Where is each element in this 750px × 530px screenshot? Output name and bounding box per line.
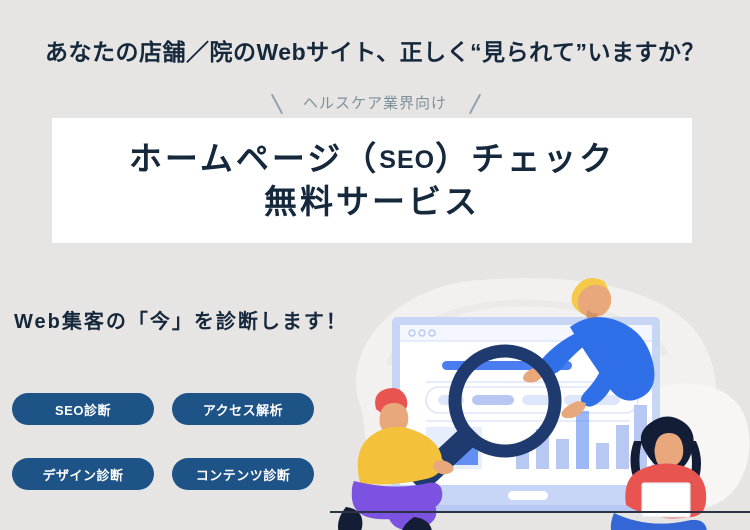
bar-3 <box>556 439 569 469</box>
badge-access-kaiseki[interactable]: アクセス解析 <box>172 393 314 425</box>
badge-design-shindan[interactable]: デザイン診断 <box>12 458 154 490</box>
bar-6 <box>616 425 629 469</box>
slash-left-icon <box>263 93 289 113</box>
bar-5 <box>596 443 609 469</box>
person-seated-face <box>655 433 684 468</box>
title-prefix: ホームページ（ <box>129 140 379 177</box>
title-suffix: ）チェック <box>435 140 615 177</box>
eyebrow-text: ヘルスケア業界向け <box>303 92 447 113</box>
title-seo: SEO <box>379 146 435 174</box>
badge-contents-shindan[interactable]: コンテンツ診断 <box>172 458 314 490</box>
laptop-trackpad <box>508 491 548 500</box>
title-line-1: ホームページ（SEO）チェック <box>129 138 615 180</box>
slash-right-icon <box>461 93 487 113</box>
seo-analytics-illustration <box>330 255 750 530</box>
page-headline: あなたの店舗／院のWebサイト、正しく“見られて”いますか？ <box>0 33 750 67</box>
search-chip-2 <box>472 395 514 405</box>
eyebrow-label: ヘルスケア業界向け <box>0 92 750 113</box>
badge-seo-shindan[interactable]: SEO診断 <box>12 393 154 425</box>
title-card: ホームページ（SEO）チェック 無料サービス <box>52 118 692 243</box>
sub-heading: Web集客の「今」を診断します！ <box>14 305 348 334</box>
bar-4 <box>576 411 589 469</box>
promotional-banner: あなたの店舗／院のWebサイト、正しく“見られて”いますか？ ヘルスケア業界向け… <box>0 0 750 530</box>
title-line-2: 無料サービス <box>264 181 480 223</box>
